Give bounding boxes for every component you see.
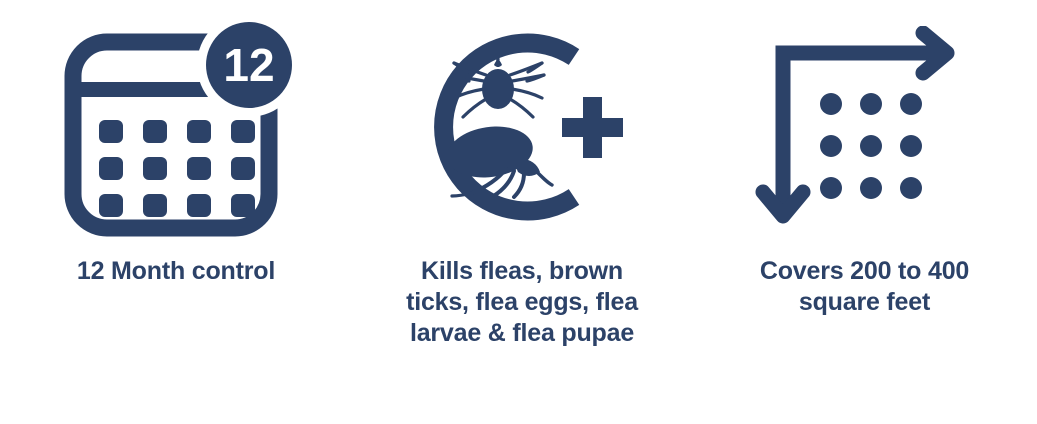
caption-line: ticks, flea eggs, flea: [366, 287, 678, 318]
feature-coverage-caption: Covers 200 to 400 square feet: [692, 256, 1037, 318]
month-badge-value: 12: [223, 39, 274, 91]
plus-icon: [562, 97, 623, 158]
coverage-dot-grid: [820, 93, 922, 199]
area-coverage-arrows-dots-icon: [755, 26, 975, 236]
pest-icon-container: [352, 0, 692, 262]
feature-duration: 12 12 Month control: [0, 0, 352, 424]
calendar-day-cells: [99, 120, 255, 217]
caption-line: square feet: [706, 287, 1023, 318]
flea-tick-circle-plus-icon: [402, 21, 642, 241]
tick-icon: [452, 57, 544, 117]
feature-pests-killed-caption: Kills fleas, brown ticks, flea eggs, fle…: [352, 256, 692, 349]
feature-pests-killed: Kills fleas, brown ticks, flea eggs, fle…: [352, 0, 692, 424]
calendar-12-month-icon: 12: [51, 16, 301, 246]
coverage-icon-container: [692, 0, 1037, 262]
feature-highlights-row: 12 12 Month control: [0, 0, 1037, 424]
calendar-icon-container: 12: [0, 0, 352, 262]
caption-line: larvae & flea pupae: [366, 318, 678, 349]
feature-coverage: Covers 200 to 400 square feet: [692, 0, 1037, 424]
